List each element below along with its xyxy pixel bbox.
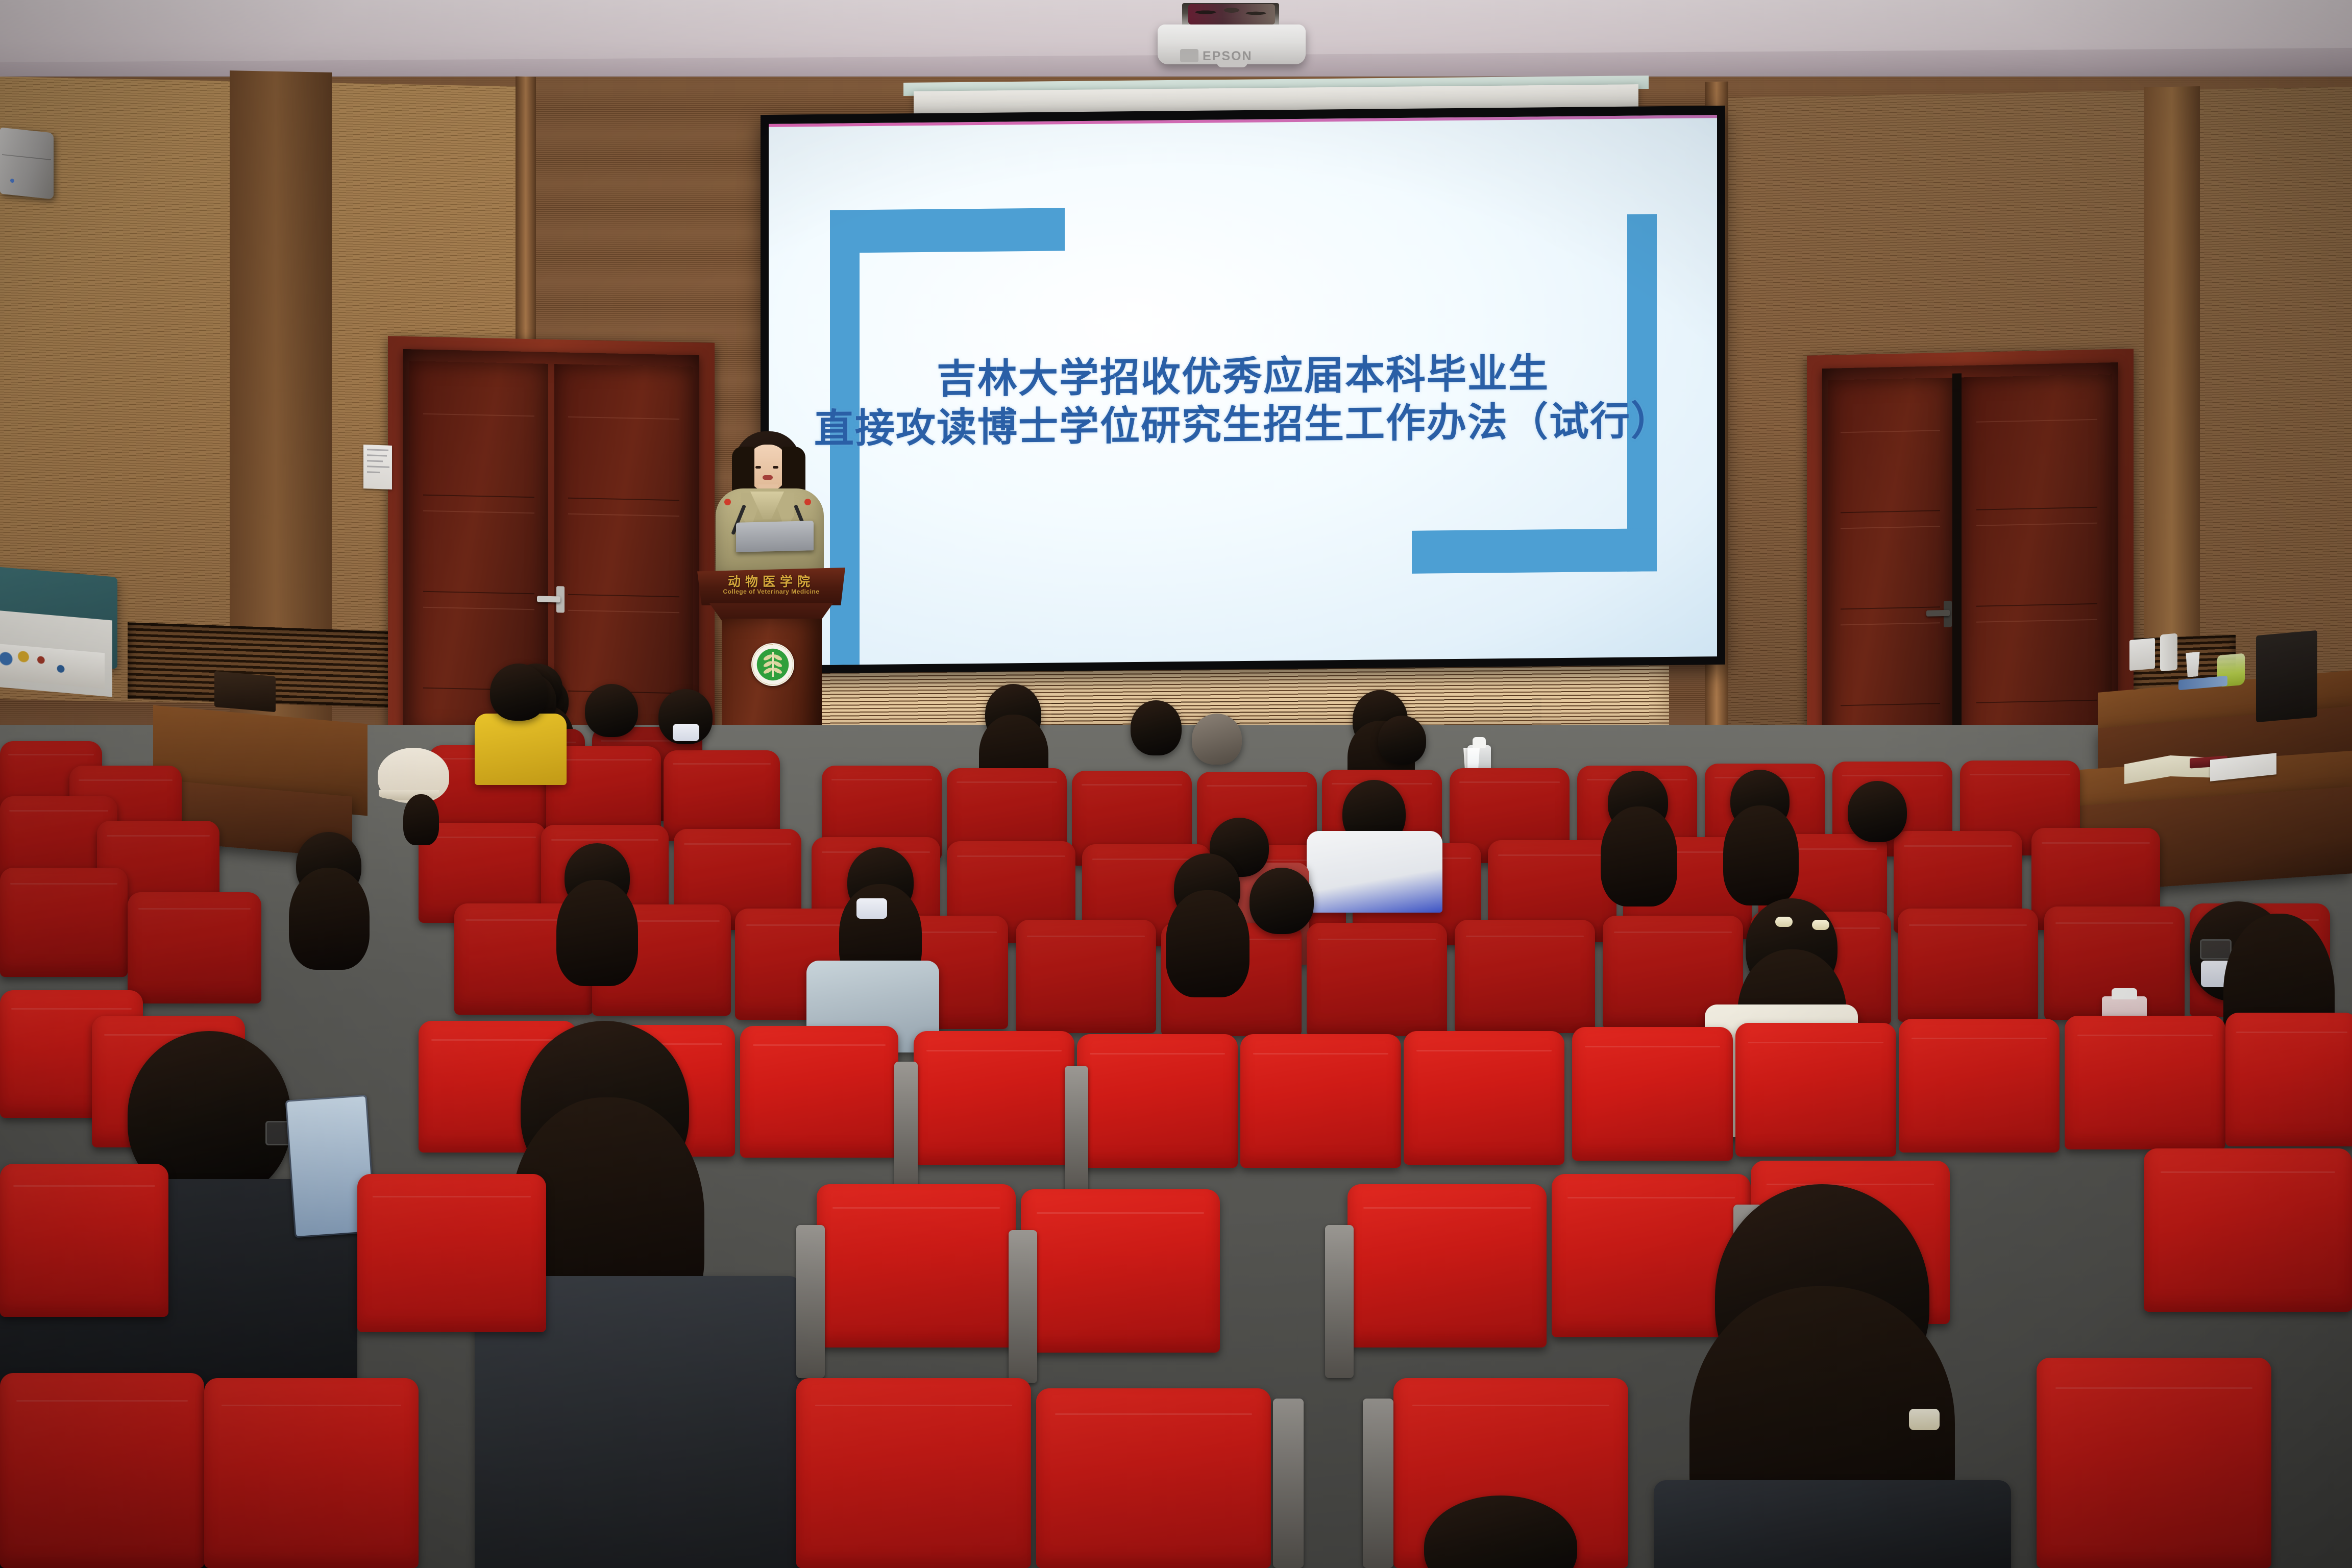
- seat[interactable]: [664, 750, 780, 841]
- microphone-head-right-icon: [804, 499, 811, 505]
- hair-clip: [1775, 917, 1793, 927]
- hair-clip: [1812, 920, 1829, 930]
- bottle-cap-icon: [1473, 737, 1486, 748]
- ceiling-projector: EPSON: [1158, 3, 1306, 69]
- audience-dark-jacket: [1654, 1480, 2011, 1568]
- projector-body: EPSON: [1158, 24, 1306, 64]
- tissue-box: [2129, 638, 2155, 671]
- projection-screen-surface: 吉林大学招收优秀应届本科毕业生 直接攻读博士学位研究生招生工作办法（试行）: [769, 115, 1717, 666]
- bottle-cap-icon: [2112, 988, 2137, 999]
- door-panel: [568, 513, 679, 597]
- door-panel: [568, 416, 679, 501]
- presenter-mouth: [763, 475, 773, 480]
- door-panel: [568, 610, 679, 694]
- door-panel: [1976, 523, 2097, 607]
- audience-head: [1131, 700, 1182, 755]
- podium: 动物医学院 College of Veterinary Medicine: [697, 568, 845, 746]
- podium-college-name-en: College of Veterinary Medicine: [697, 588, 845, 595]
- seat[interactable]: [1404, 1031, 1564, 1165]
- door-leaf-left[interactable]: [1828, 378, 1953, 751]
- slide-bracket-top-left-horizontal: [830, 208, 1065, 253]
- door-notice-paper: [363, 445, 392, 489]
- hair-clip: [1909, 1409, 1940, 1430]
- audience-yellow-hoodie: [475, 714, 567, 785]
- seat[interactable]: [817, 1184, 1016, 1347]
- door-panel: [1841, 622, 1940, 706]
- face-mask: [673, 724, 699, 741]
- seat-armrest: [1273, 1399, 1304, 1568]
- seat[interactable]: [1455, 920, 1595, 1033]
- seat[interactable]: [1347, 1184, 1547, 1347]
- seat[interactable]: [0, 1164, 168, 1317]
- seat[interactable]: [1016, 920, 1156, 1033]
- door-panel: [1841, 526, 1940, 610]
- audience-head: [1249, 868, 1314, 934]
- audience-hair: [556, 880, 638, 986]
- audience-hair: [403, 794, 439, 845]
- seat[interactable]: [1898, 909, 2038, 1022]
- door-panel: [423, 413, 534, 498]
- seat[interactable]: [2065, 1016, 2225, 1149]
- audience-head: [1192, 714, 1242, 765]
- seat-armrest: [894, 1062, 918, 1189]
- seat[interactable]: [357, 1174, 546, 1332]
- seat-armrest: [1325, 1225, 1354, 1378]
- microphone-head-left-icon: [724, 499, 731, 505]
- slide-title-line-1: 吉林大学招收优秀应届本科毕业生: [769, 348, 1717, 405]
- audience-head: [1848, 781, 1907, 842]
- slide-title-line-2: 直接攻读博士学位研究生招生工作办法（试行）: [769, 396, 1717, 454]
- projection-screen-frame: 吉林大学招收优秀应届本科毕业生 直接攻读博士学位研究生招生工作办法（试行）: [761, 106, 1725, 674]
- door-handle-icon[interactable]: [537, 596, 560, 602]
- audience-head: [1378, 716, 1426, 765]
- door-leaf-right[interactable]: [1962, 374, 2113, 748]
- wall-speaker: [0, 127, 54, 199]
- audience-hair: [1166, 890, 1249, 997]
- seat[interactable]: [914, 1031, 1074, 1165]
- seat[interactable]: [204, 1378, 419, 1568]
- audience-head: [490, 664, 547, 721]
- glasses-icon: [2200, 939, 2232, 960]
- audience-hair: [1723, 805, 1799, 905]
- entrance-door-right[interactable]: [1822, 362, 2118, 763]
- seat[interactable]: [796, 1378, 1031, 1568]
- seat[interactable]: [1307, 923, 1447, 1036]
- seat[interactable]: [1036, 1388, 1271, 1568]
- left-desk-box: [214, 671, 276, 712]
- presenter-laptop: [736, 521, 814, 552]
- projector-cables: [1188, 4, 1275, 24]
- seat-armrest: [1009, 1230, 1037, 1383]
- door-panel: [1841, 430, 1940, 513]
- side-chair-right: [2256, 630, 2317, 722]
- slide-title: 吉林大学招收优秀应届本科毕业生 直接攻读博士学位研究生招生工作办法（试行）: [769, 348, 1717, 454]
- podium-college-name-cn: 动物医学院: [697, 572, 845, 590]
- door-panel: [1976, 619, 2097, 703]
- door-panel: [1976, 419, 2097, 510]
- seat-armrest: [1363, 1399, 1393, 1568]
- podium-neck: [709, 603, 833, 621]
- seat[interactable]: [2037, 1358, 2271, 1568]
- presenter-eye-right: [773, 466, 778, 469]
- seat[interactable]: [1077, 1034, 1238, 1168]
- seat[interactable]: [2225, 1013, 2352, 1146]
- seat[interactable]: [128, 892, 261, 1003]
- presenter: [710, 431, 828, 584]
- seat-armrest: [796, 1225, 825, 1378]
- seat[interactable]: [1899, 1019, 2060, 1153]
- audience-hair: [289, 868, 370, 970]
- seat[interactable]: [1240, 1034, 1401, 1168]
- seat[interactable]: [0, 1373, 204, 1568]
- audience-head: [585, 684, 638, 737]
- door-open-gap: [1952, 374, 1961, 752]
- screen-top-edge-glow: [769, 115, 1717, 127]
- speaker-led: [10, 179, 14, 183]
- projector-lens-icon: [1180, 49, 1198, 62]
- door-handle-icon[interactable]: [1926, 610, 1950, 617]
- seat[interactable]: [1572, 1027, 1733, 1161]
- door-leaf-right[interactable]: [554, 364, 694, 739]
- college-crest-icon: [751, 643, 794, 686]
- face-mask: [856, 898, 887, 919]
- presenter-eye-left: [755, 466, 761, 469]
- child-hoodie: [1307, 831, 1442, 913]
- seat[interactable]: [1735, 1023, 1896, 1157]
- seat[interactable]: [1021, 1189, 1220, 1353]
- seat[interactable]: [0, 868, 128, 977]
- seat-armrest: [1065, 1066, 1088, 1193]
- auditorium-scene: EPSON 吉林大学招收优秀应届本科毕业生 直接攻读博士学位研究生招生工作办法（…: [0, 0, 2352, 1568]
- seat[interactable]: [740, 1026, 898, 1158]
- audience-hair: [1601, 806, 1677, 906]
- slide-bracket-bottom-right-horizontal: [1412, 528, 1657, 574]
- seat[interactable]: [2144, 1148, 2352, 1312]
- projector-foot: [1217, 60, 1247, 67]
- door-panel: [423, 510, 534, 594]
- paper-towel-roll: [2160, 633, 2177, 672]
- speaker-seam: [2, 154, 51, 160]
